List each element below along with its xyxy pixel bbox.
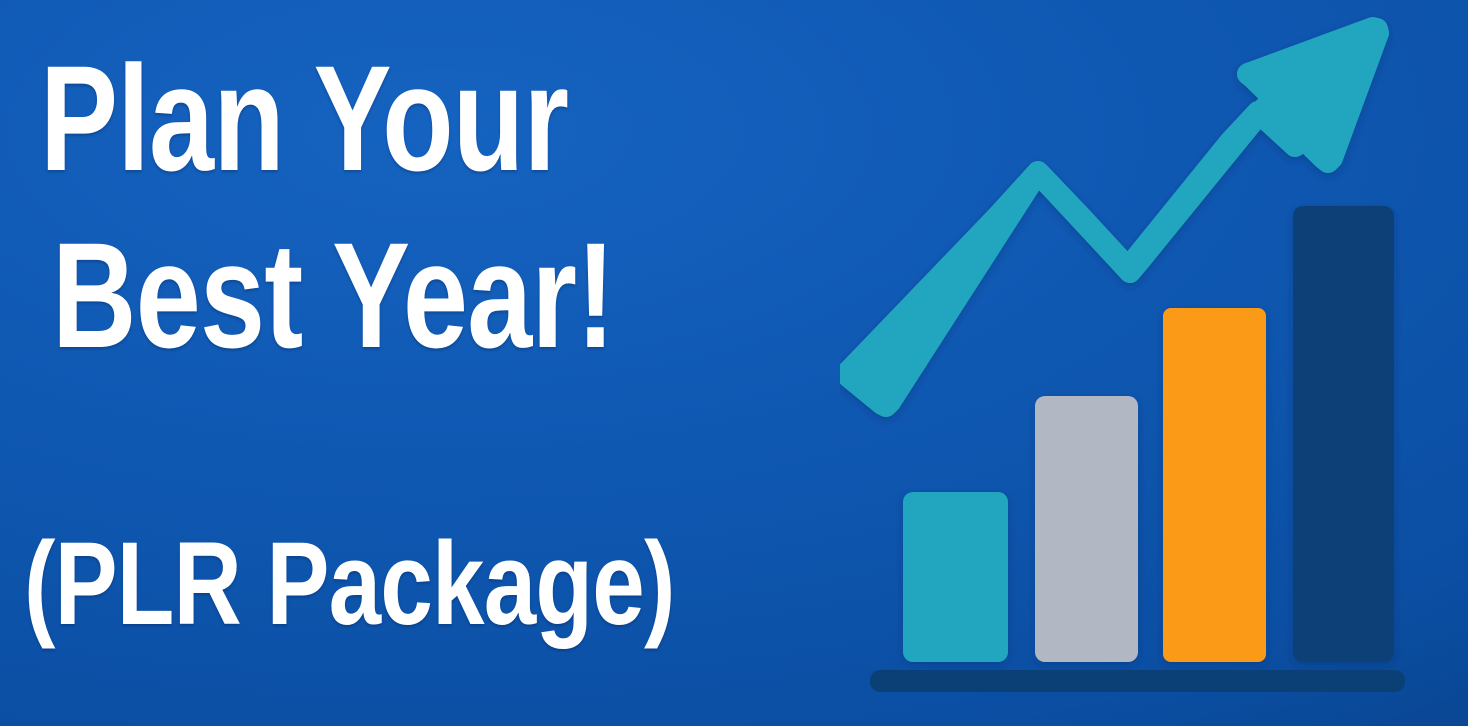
subhead-text: (PLR Package): [24, 520, 675, 650]
promo-banner: Plan Your Best Year! (PLR Package): [0, 0, 1468, 726]
bar-1-teal: [903, 492, 1008, 662]
growth-chart-graphic: [840, 0, 1468, 726]
headline-block: Plan Your Best Year!: [40, 30, 840, 384]
bar-2-gray: [1035, 396, 1138, 662]
bar-4-navy: [1293, 206, 1394, 662]
bar-3-orange: [1163, 308, 1266, 662]
headline-line-2: Best Year!: [52, 207, 667, 384]
headline-line-1: Plan Your: [40, 30, 664, 207]
chart-baseline: [870, 670, 1405, 692]
